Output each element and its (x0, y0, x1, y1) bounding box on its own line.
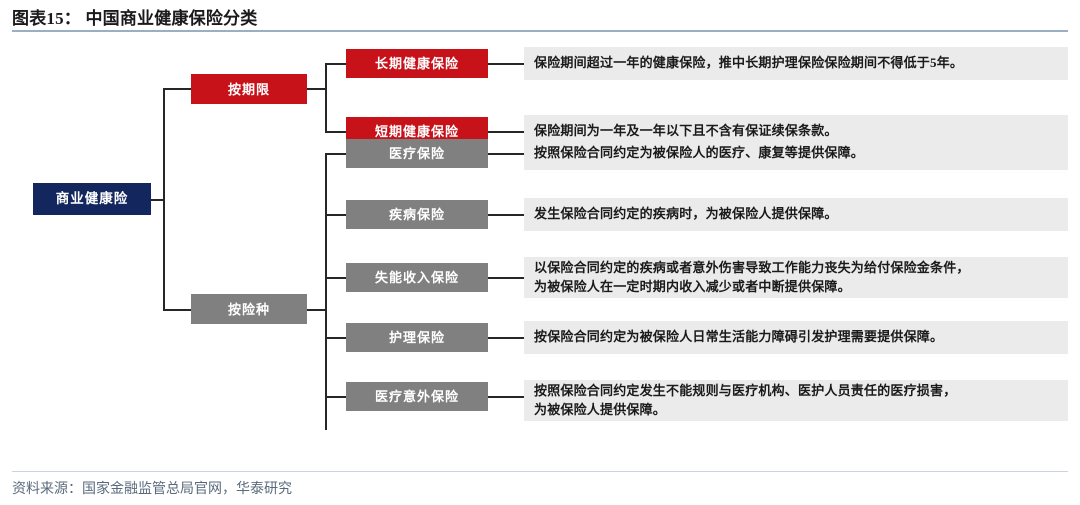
desc-disability-income-insurance: 以保险合同约定的疾病或者意外伤害导致工作能力丧失为给付保险金条件， 为被保险人在… (524, 257, 1068, 298)
node-leaf-nursing-care-insurance[interactable]: 护理保险 (346, 323, 488, 352)
node-label: 医疗意外保险 (375, 390, 459, 403)
connector-branch2-child1 (325, 153, 346, 155)
connector-desc-7 (487, 396, 524, 398)
connector-desc-1 (487, 63, 524, 65)
connector-branch1-stub (306, 88, 326, 90)
connector-desc-4 (487, 214, 524, 216)
node-label: 疾病保险 (389, 208, 445, 221)
node-root-commercial-health-insurance[interactable]: 商业健康险 (33, 183, 151, 215)
connector-root-stub (150, 199, 164, 201)
node-label: 按期限 (228, 83, 270, 96)
node-leaf-long-term-health-insurance[interactable]: 长期健康保险 (346, 49, 488, 78)
connector-branch2-stub (306, 309, 326, 311)
desc-line: 按照保险合同约定为被保险人的医疗、康复等提供保障。 (534, 144, 1058, 163)
desc-disease-insurance: 发生保险合同约定的疾病时，为被保险人提供保障。 (524, 198, 1068, 231)
desc-medical-accident-insurance: 按照保险合同约定发生不能规则与医疗机构、医护人员责任的医疗损害， 为被保险人提供… (524, 380, 1068, 421)
node-leaf-disease-insurance[interactable]: 疾病保险 (346, 200, 488, 229)
desc-long-term-health-insurance: 保险期间超过一年的健康保险，推中长期护理保险保险期间不得低于5年。 (524, 47, 1068, 80)
page-title: 图表15： 中国商业健康保险分类 (12, 4, 257, 29)
connector-branch1-child2 (325, 131, 346, 133)
desc-nursing-care-insurance: 按保险合同约定为被保险人日常生活能力障碍引发护理需要提供保障。 (524, 321, 1068, 354)
desc-line: 按照保险合同约定发生不能规则与医疗机构、医护人员责任的医疗损害， (534, 382, 1058, 401)
node-label: 长期健康保险 (375, 57, 459, 70)
connector-to-branch-2 (163, 309, 191, 311)
connector-desc-5 (487, 277, 524, 279)
connector-to-branch-1 (163, 88, 191, 90)
connector-desc-6 (487, 337, 524, 339)
node-label: 商业健康险 (56, 192, 129, 206)
connector-branch1-spine (325, 63, 327, 133)
figure-header: 图表15： 中国商业健康保险分类 (0, 0, 1080, 30)
connector-branch2-child5 (325, 396, 346, 398)
connector-branch1-child1 (325, 63, 346, 65)
desc-line: 为被保险人在一定时期内收入减少或者中断提供保障。 (534, 278, 1058, 297)
node-label: 护理保险 (389, 331, 445, 344)
desc-line: 按保险合同约定为被保险人日常生活能力障碍引发护理需要提供保障。 (534, 328, 1058, 347)
connector-branch2-child3 (325, 277, 346, 279)
node-leaf-medical-accident-insurance[interactable]: 医疗意外保险 (346, 382, 488, 411)
desc-medical-insurance: 按照保险合同约定为被保险人的医疗、康复等提供保障。 (524, 137, 1068, 170)
node-label: 失能收入保险 (375, 271, 459, 284)
source-note: 资料来源：国家金融监管总局官网，华泰研究 (12, 478, 292, 498)
node-label: 医疗保险 (389, 147, 445, 160)
connector-branch2-child4 (325, 337, 346, 339)
diagram-canvas: 商业健康险 按期限 按险种 长期健康保险 短期健康保险 医疗保险 疾病保险 失能… (0, 32, 1080, 470)
connector-branch2-child2 (325, 214, 346, 216)
connector-branch2-spine (325, 153, 327, 430)
connector-desc-3 (487, 153, 524, 155)
desc-line: 为被保险人提供保障。 (534, 401, 1058, 420)
node-branch-by-term[interactable]: 按期限 (191, 74, 307, 104)
desc-line: 发生保险合同约定的疾病时，为被保险人提供保障。 (534, 205, 1058, 224)
node-label: 短期健康保险 (375, 125, 459, 138)
node-branch-by-insurance-type[interactable]: 按险种 (191, 294, 307, 324)
footer-divider (12, 471, 1068, 472)
connector-desc-2 (487, 131, 524, 133)
desc-line: 以保险合同约定的疾病或者意外伤害导致工作能力丧失为给付保险金条件， (534, 259, 1058, 278)
connector-root-spine (163, 88, 165, 311)
node-leaf-medical-insurance[interactable]: 医疗保险 (346, 139, 488, 168)
node-leaf-disability-income-insurance[interactable]: 失能收入保险 (346, 263, 488, 292)
desc-line: 保险期间超过一年的健康保险，推中长期护理保险保险期间不得低于5年。 (534, 54, 1058, 73)
node-label: 按险种 (228, 303, 270, 316)
